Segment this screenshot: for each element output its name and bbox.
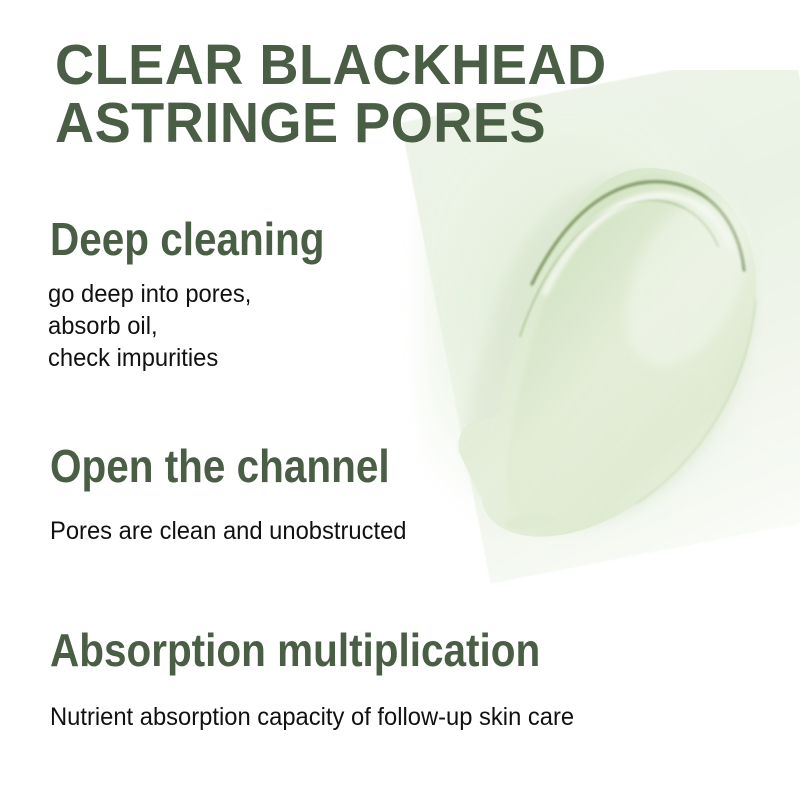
feature-title: Open the channel (50, 443, 390, 489)
feature-body: Nutrient absorption capacity of follow-u… (50, 701, 579, 733)
feature-body: go deep into pores, absorb oil, check im… (48, 278, 346, 374)
page-title: CLEAR BLACKHEAD ASTRINGE PORES (55, 36, 720, 152)
feature-body: Pores are clean and unobstructed (50, 515, 417, 547)
feature-title: Deep cleaning (50, 216, 324, 262)
feature-section-open-the-channel: Open the channel Pores are clean and uno… (50, 443, 436, 547)
feature-section-deep-cleaning: Deep cleaning go deep into pores, absorb… (50, 216, 362, 374)
feature-title: Absorption multiplication (50, 627, 540, 673)
feature-section-absorption-multiplication: Absorption multiplication Nutrient absor… (50, 627, 607, 733)
product-poster: CLEAR BLACKHEAD ASTRINGE PORES Deep clea… (0, 0, 800, 800)
